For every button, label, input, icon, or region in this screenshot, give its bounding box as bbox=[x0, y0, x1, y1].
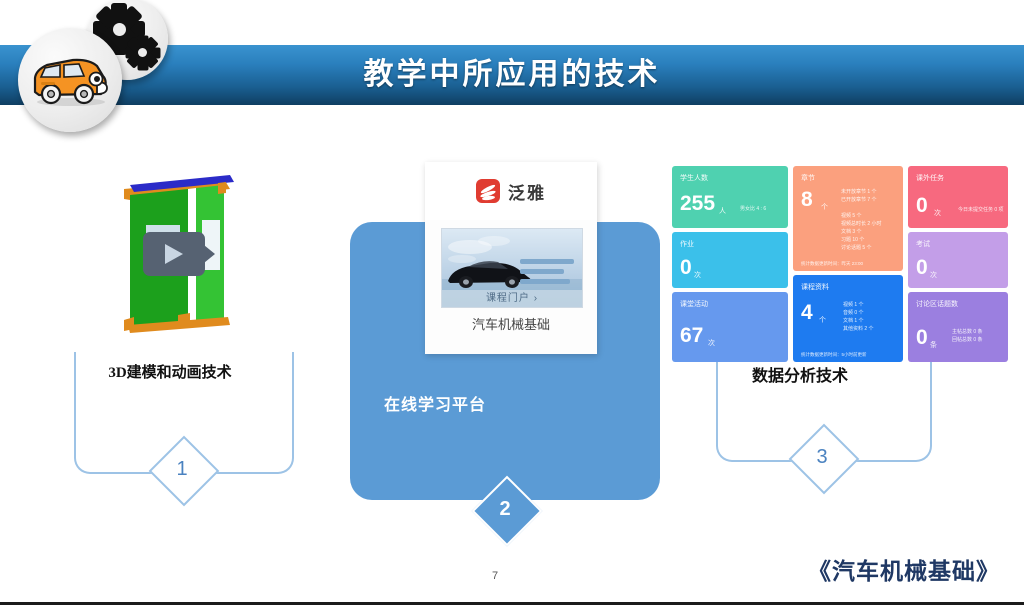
course-portal-button[interactable]: 课程门户 › bbox=[442, 290, 582, 307]
footer-course-title: 《汽车机械基础》 bbox=[808, 552, 1000, 586]
car-illustration bbox=[27, 52, 113, 108]
page-number: 7 bbox=[492, 570, 498, 582]
column-2-label: 在线学习平台 bbox=[384, 391, 486, 415]
tile-materials-unit: 个 bbox=[819, 315, 826, 325]
tile-materials: 课程资料 4 个 视频 1 个 音频 0 个 文档 1 个 其他资料 2 个 统… bbox=[793, 275, 903, 362]
tile-exam-value: 0 bbox=[916, 256, 928, 280]
tile-class-activity-value: 67 bbox=[680, 324, 703, 348]
tile-students-label: 学生人数 bbox=[680, 173, 708, 183]
course-logo bbox=[8, 0, 198, 136]
tile-chapters-value: 8 bbox=[801, 188, 813, 212]
analytics-dashboard: 学生人数 255 人 男女比 4 : 6 章节 8 个 未开放章节 1 个 已开… bbox=[672, 166, 1008, 362]
tile-chapters-unit: 个 bbox=[821, 202, 828, 212]
tile-class-activity-unit: 次 bbox=[708, 338, 715, 348]
step-number-3: 3 bbox=[799, 434, 845, 480]
slide-canvas: 教学中所应用的技术 bbox=[0, 0, 1024, 605]
tile-discussion-sub: 主帖总数 0 条 回帖总数 0 条 bbox=[952, 328, 983, 344]
thumbnail-text-lines bbox=[520, 259, 574, 289]
tile-homework-unit: 次 bbox=[694, 270, 701, 280]
fanya-brand-name: 泛雅 bbox=[508, 179, 546, 204]
tile-chapters-foot: 统计数据更新时间：昨天 23:00 bbox=[801, 261, 863, 267]
gear-small-icon bbox=[130, 40, 155, 65]
tile-materials-label: 课程资料 bbox=[801, 282, 829, 292]
column-3-label: 数据分析技术 bbox=[690, 362, 910, 386]
tile-homework: 作业 0 次 bbox=[672, 232, 788, 288]
tile-class-activity: 课堂活动 67 次 bbox=[672, 292, 788, 362]
course-thumbnail[interactable]: 课程门户 › bbox=[441, 228, 583, 308]
tile-students-unit: 人 bbox=[719, 206, 726, 216]
fanya-platform-card[interactable]: 泛雅 课程门户 › 汽车机械基础 bbox=[425, 162, 597, 354]
video-play-icon[interactable] bbox=[143, 232, 205, 276]
tile-exam-label: 考试 bbox=[916, 239, 930, 249]
tile-materials-value: 4 bbox=[801, 301, 813, 325]
fanya-brand-header: 泛雅 bbox=[425, 162, 597, 220]
tile-homework-label: 作业 bbox=[680, 239, 694, 249]
tile-exam: 考试 0 次 bbox=[908, 232, 1008, 288]
tile-discussion: 讨论区话题数 0 条 主帖总数 0 条 回帖总数 0 条 bbox=[908, 292, 1008, 362]
tile-materials-foot: 统计数据更新时间：5小时前更新 bbox=[801, 352, 867, 358]
tile-extracurricular-label: 课外任务 bbox=[916, 173, 944, 183]
tile-chapters: 章节 8 个 未开放章节 1 个 已开放章节 7 个 视频 5 个 视频总时长 … bbox=[793, 166, 903, 271]
column-1-label: 3D建模和动画技术 bbox=[70, 361, 270, 382]
tile-discussion-value: 0 bbox=[916, 326, 928, 350]
tile-class-activity-label: 课堂活动 bbox=[680, 299, 708, 309]
tile-extracurricular-sub: 今日未提交任务 0 项 bbox=[958, 206, 1004, 214]
tile-students-sub: 男女比 4 : 6 bbox=[740, 205, 766, 213]
tile-students: 学生人数 255 人 男女比 4 : 6 bbox=[672, 166, 788, 228]
tile-discussion-label: 讨论区话题数 bbox=[916, 299, 958, 309]
tile-extracurricular-value: 0 bbox=[916, 194, 928, 218]
course-name: 汽车机械基础 bbox=[425, 314, 597, 333]
fanya-logo-icon bbox=[476, 179, 500, 203]
tile-discussion-unit: 条 bbox=[930, 340, 937, 350]
tile-materials-sub: 视频 1 个 音频 0 个 文档 1 个 其他资料 2 个 bbox=[843, 301, 874, 333]
step-number-1: 1 bbox=[159, 446, 205, 492]
tile-students-value: 255 bbox=[680, 192, 715, 216]
car-icon bbox=[18, 28, 122, 132]
tile-chapters-label: 章节 bbox=[801, 173, 815, 183]
tile-chapters-sub: 未开放章节 1 个 已开放章节 7 个 视频 5 个 视频总时长 2 小时 文档… bbox=[841, 188, 882, 252]
tile-extracurricular-unit: 次 bbox=[934, 208, 941, 218]
step-number-2: 2 bbox=[482, 486, 528, 532]
tile-exam-unit: 次 bbox=[930, 270, 937, 280]
tile-homework-value: 0 bbox=[680, 256, 692, 280]
tile-extracurricular: 课外任务 0 次 今日未提交任务 0 项 bbox=[908, 166, 1008, 228]
